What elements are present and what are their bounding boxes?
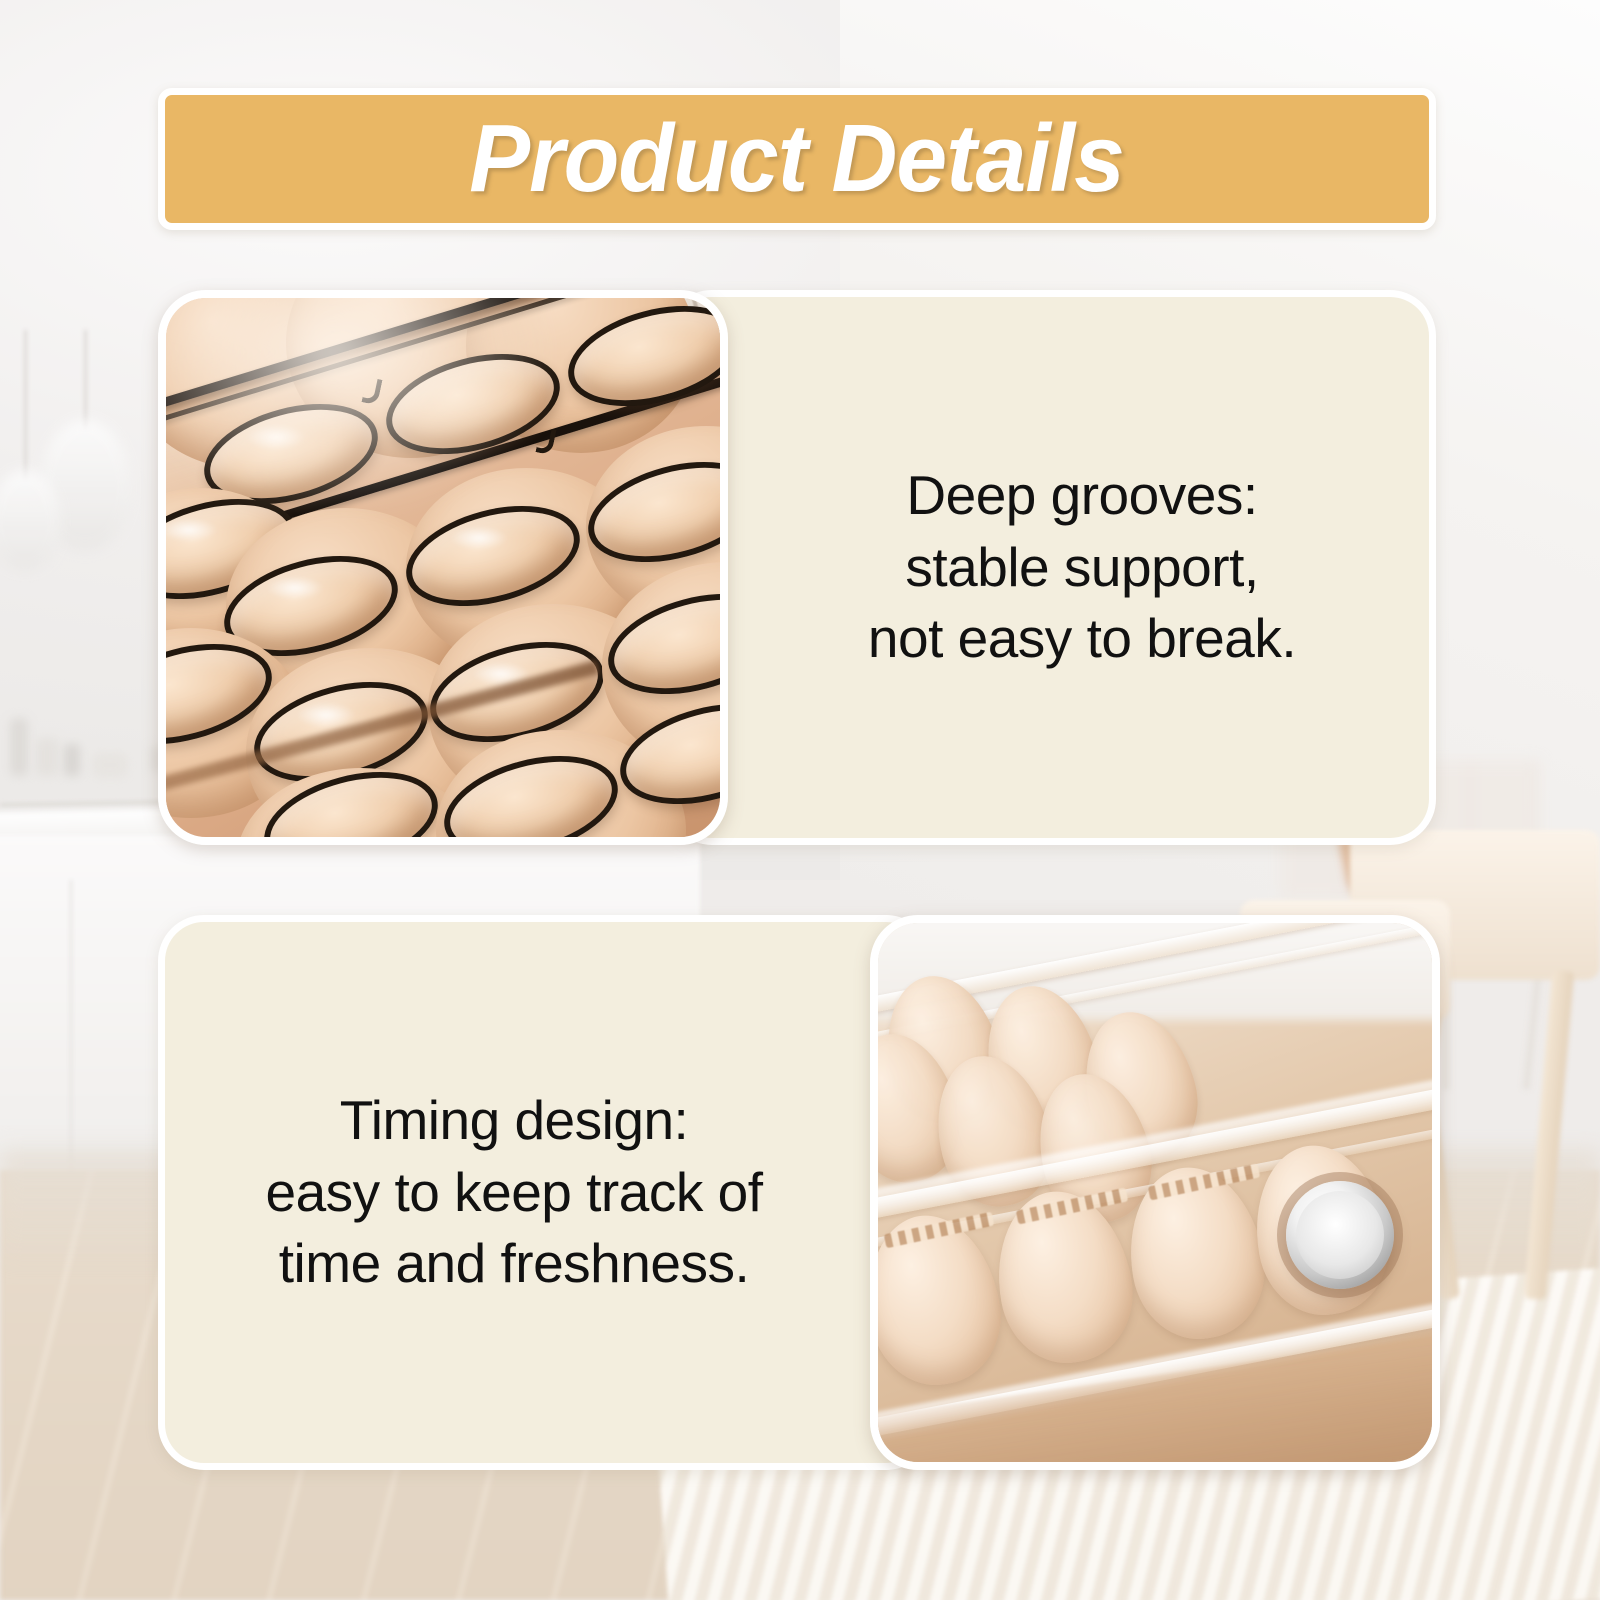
product-details-banner: Product Details (158, 88, 1436, 230)
pendant-lamp-cord (84, 330, 87, 430)
counter-object (36, 738, 58, 776)
section-timing-design: Timing design: easy to keep track of tim… (158, 915, 1440, 1470)
egg-tray-timing-dial-photo (870, 915, 1440, 1470)
product-details-page: Product Details (0, 0, 1600, 1600)
caption-line-3: time and freshness. (266, 1228, 763, 1300)
caption-line-2: stable support, (868, 532, 1296, 604)
caption-deep-grooves: Deep grooves: stable support, not easy t… (868, 460, 1296, 675)
caption-line-1: Deep grooves: (868, 460, 1296, 532)
timer-dial (1286, 1181, 1394, 1289)
section-deep-grooves: Deep grooves: stable support, not easy t… (158, 290, 1436, 845)
egg-tray-deep-grooves-photo (158, 290, 728, 845)
counter-object (10, 718, 28, 776)
pendant-lamp-cord (24, 330, 27, 480)
caption-line-2: easy to keep track of (266, 1157, 763, 1229)
caption-line-3: not easy to break. (868, 603, 1296, 675)
page-title: Product Details (470, 111, 1125, 207)
counter-object (64, 744, 80, 776)
caption-timing-design: Timing design: easy to keep track of tim… (266, 1085, 763, 1300)
caption-line-1: Timing design: (266, 1085, 763, 1157)
counter-object (92, 752, 128, 778)
caption-card-timing-design: Timing design: easy to keep track of tim… (158, 915, 932, 1470)
caption-card-deep-grooves: Deep grooves: stable support, not easy t… (666, 290, 1436, 845)
